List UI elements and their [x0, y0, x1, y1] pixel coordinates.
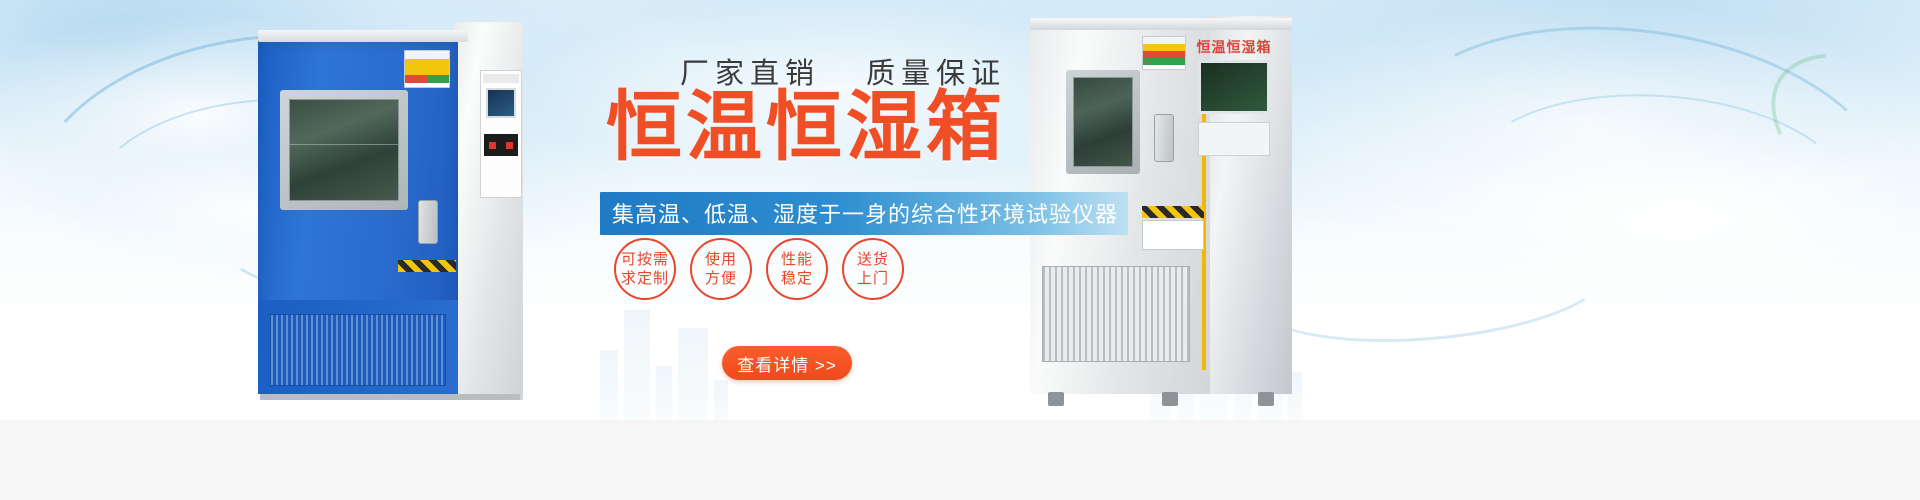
view-details-button[interactable]: 查看详情 >>: [722, 346, 852, 380]
feature-badge-stable: 性能 稳定: [766, 238, 828, 300]
badge-line-2: 稳定: [781, 269, 813, 288]
feature-badge-delivery: 送货 上门: [842, 238, 904, 300]
right-machine-foot: [1258, 392, 1274, 406]
badge-line-2: 方便: [705, 269, 737, 288]
right-machine-hazard-stripe: [1142, 206, 1204, 218]
right-machine-brand-text: 恒温恒湿箱: [1190, 38, 1278, 56]
subtitle-bar: 集高温、低温、湿度于一身的综合性环境试验仪器: [600, 192, 1128, 235]
badge-line-1: 送货: [857, 250, 889, 269]
right-machine-foot: [1162, 392, 1178, 406]
left-machine-top-cap: [258, 30, 468, 42]
right-machine-display-screen: [1198, 60, 1270, 114]
feature-badge-easy-use: 使用 方便: [690, 238, 752, 300]
promo-banner: 恒温恒湿箱 厂家直销 质量保证 恒温恒湿箱 集高温、低温、湿度于一身的综合性环境…: [0, 0, 1920, 500]
left-machine-view-window: [280, 90, 408, 210]
left-machine-display-screen: [486, 88, 516, 118]
page-title: 恒温恒湿箱: [606, 88, 1006, 168]
badge-line-2: 求定制: [621, 269, 669, 288]
right-machine-door-handle: [1154, 114, 1174, 162]
left-machine-floor-shadow: [260, 394, 520, 400]
product-image-left: [258, 22, 523, 400]
right-machine-control-keypad: [1198, 122, 1270, 156]
left-machine-hazard-stripe: [398, 260, 456, 272]
feature-badge-custom: 可按需 求定制: [614, 238, 676, 300]
left-machine-button-row: [484, 134, 518, 156]
left-machine-warning-label: [404, 50, 450, 88]
copy-block: 厂家直销 质量保证 恒温恒湿箱 集高温、低温、湿度于一身的综合性环境试验仪器 可…: [600, 0, 1100, 470]
badge-line-1: 可按需: [621, 250, 669, 269]
left-machine-panel-title-plate: [483, 74, 519, 83]
right-machine-warning-label: [1142, 36, 1186, 70]
left-machine-door-handle: [418, 200, 438, 244]
badge-line-2: 上门: [857, 269, 889, 288]
right-machine-spec-plate: [1142, 220, 1204, 250]
badge-line-1: 使用: [705, 250, 737, 269]
feature-badge-list: 可按需 求定制 使用 方便 性能 稳定 送货 上门: [614, 238, 904, 300]
left-machine-vent-grill: [270, 314, 446, 386]
badge-line-1: 性能: [781, 250, 813, 269]
